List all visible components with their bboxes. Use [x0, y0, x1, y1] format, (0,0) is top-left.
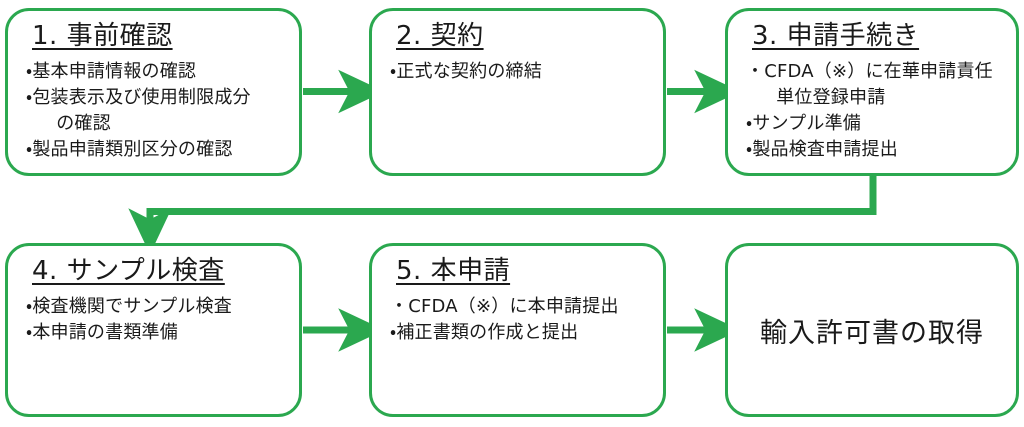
list-item: ・基本申請情報の確認 [26, 59, 285, 85]
step-1-item-list: ・基本申請情報の確認 ・包装表示及び使用制限成分 の確認 ・製品申請類別区分の確… [26, 59, 285, 163]
list-item: ・正式な契約の締結 [390, 59, 649, 85]
list-item: ・補正書類の作成と提出 [390, 320, 649, 346]
step-box-1[interactable]: 1. 事前確認 ・基本申請情報の確認 ・包装表示及び使用制限成分 の確認 ・製品… [5, 8, 302, 176]
step-box-5[interactable]: 5. 本申請 ・CFDA（※）に本申請提出 ・補正書類の作成と提出 [369, 243, 666, 417]
step-box-2[interactable]: 2. 契約 ・正式な契約の締結 [369, 8, 666, 176]
step-3-item-list: ・CFDA（※）に在華申請責任 単位登録申請 ・サンプル準備 ・製品検査申請提出 [746, 59, 1002, 163]
step-4-title: 4. サンプル検査 [32, 256, 225, 288]
list-item: ・CFDA（※）に在華申請責任 単位登録申請 [746, 59, 1002, 111]
list-item: ・包装表示及び使用制限成分 の確認 [26, 85, 285, 137]
flowchart-canvas: 1. 事前確認 ・基本申請情報の確認 ・包装表示及び使用制限成分 の確認 ・製品… [0, 0, 1024, 427]
step-2-item-list: ・正式な契約の締結 [390, 59, 649, 85]
list-item: ・検査機関でサンプル検査 [26, 294, 285, 320]
step-4-item-list: ・検査機関でサンプル検査 ・本申請の書類準備 [26, 294, 285, 346]
step-5-title: 5. 本申請 [396, 256, 510, 288]
outcome-label: 輸入許可書の取得 [760, 311, 984, 350]
step-box-4[interactable]: 4. サンプル検査 ・検査機関でサンプル検査 ・本申請の書類準備 [5, 243, 302, 417]
outcome-box[interactable]: 輸入許可書の取得 [725, 243, 1019, 417]
list-item: ・製品検査申請提出 [746, 137, 1002, 163]
list-item: ・CFDA（※）に本申請提出 [390, 294, 649, 320]
list-item: ・サンプル準備 [746, 111, 1002, 137]
step-2-title: 2. 契約 [396, 21, 484, 53]
list-item: ・製品申請類別区分の確認 [26, 137, 285, 163]
step-5-item-list: ・CFDA（※）に本申請提出 ・補正書類の作成と提出 [390, 294, 649, 346]
step-box-3[interactable]: 3. 申請手続き ・CFDA（※）に在華申請責任 単位登録申請 ・サンプル準備 … [725, 8, 1019, 176]
step-3-title: 3. 申請手続き [752, 21, 919, 53]
list-item: ・本申請の書類準備 [26, 320, 285, 346]
arrow-node3-to-node4 [150, 176, 873, 232]
step-1-title: 1. 事前確認 [32, 21, 173, 53]
